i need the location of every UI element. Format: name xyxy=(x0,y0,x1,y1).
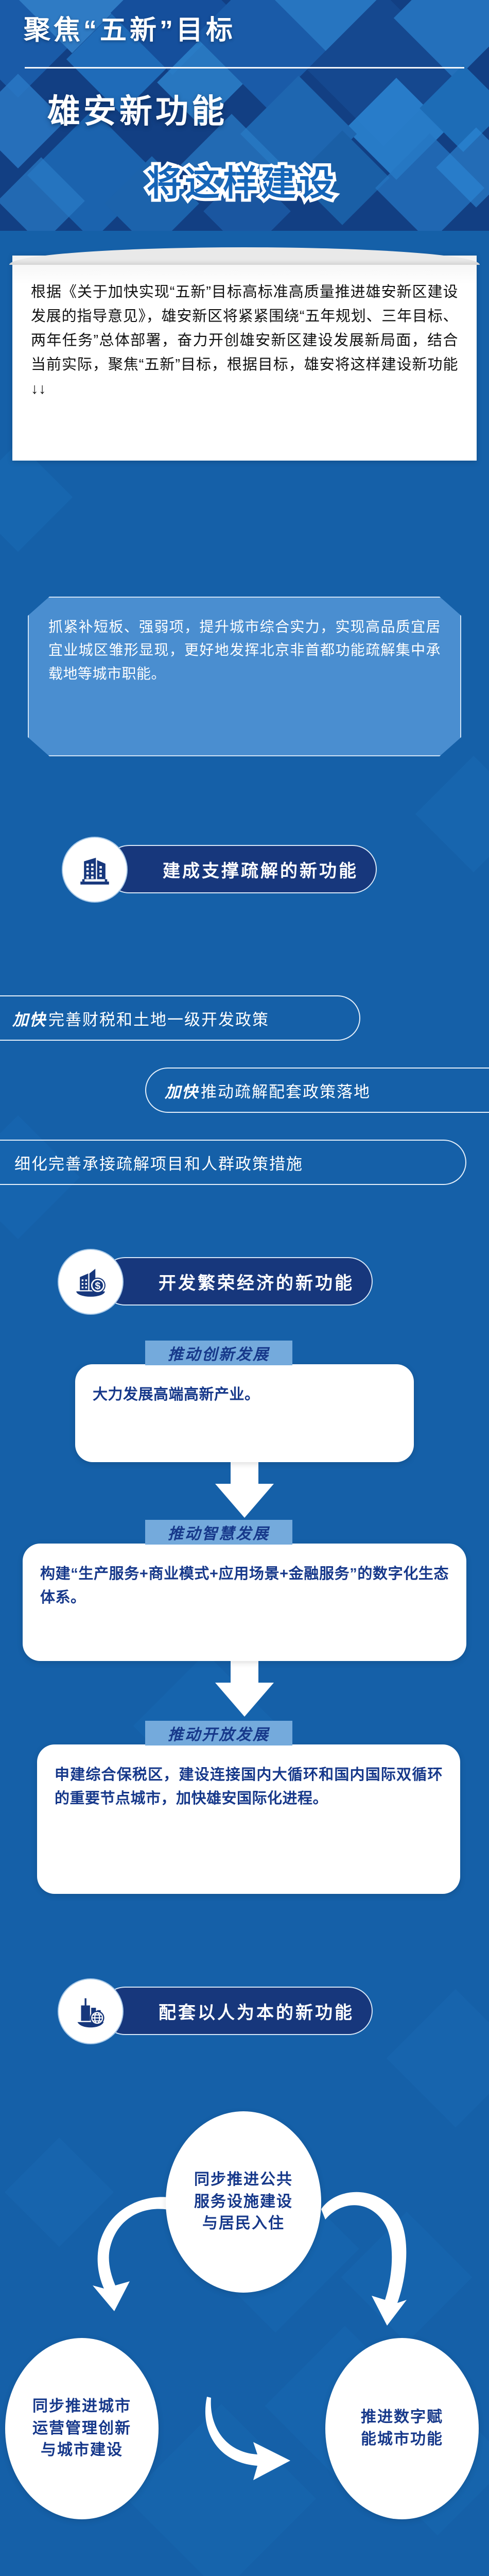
hero-divider-rule xyxy=(25,67,464,69)
hero-header: 聚焦“五新”目标 雄安新功能 将这样建设 xyxy=(0,0,489,231)
callout-bubble-2: 构建“生产服务+商业模式+应用场景+金融服务”的数字化生态体系。 xyxy=(23,1544,466,1661)
callout-tag-3: 推动开放发展 xyxy=(145,1721,292,1745)
callout-bubble-2-text: 构建“生产服务+商业模式+应用场景+金融服务”的数字化生态体系。 xyxy=(23,1544,466,1629)
hero-eyebrow-title: 聚焦“五新”目标 xyxy=(24,8,236,47)
outcome-circle-bl-line2: 运营管理创新 xyxy=(32,2418,131,2440)
outcome-circle-bl-line1: 同步推进城市 xyxy=(32,2396,131,2418)
policy-pill-1-emph: 加快 xyxy=(12,1007,46,1030)
outcome-circle-bottom-right: 推进数字赋 能城市功能 xyxy=(325,2338,479,2519)
policy-pill-3-label: 细化完善承接疏解项目和人群政策措施 xyxy=(14,1151,303,1174)
section-title-pill: 建成支撑疏解的新功能 xyxy=(105,845,377,893)
intro-paper-text: 根据《关于加快实现“五新”目标高标准高质量推进雄安新区建设发展的指导意见》，雄安… xyxy=(12,256,477,419)
section-title-pill: 配套以人为本的新功能 xyxy=(101,1987,373,2035)
infographic-poster: 聚焦“五新”目标 雄安新功能 将这样建设 根据《关于加快实现“五新”目标高标准高… xyxy=(0,0,489,2576)
section-title-label: 建成支撑疏解的新功能 xyxy=(163,857,358,882)
background-diamond xyxy=(387,1989,489,2128)
outcome-circle-top: 同步推进公共 服务设施建设 与居民入住 xyxy=(166,2111,321,2293)
section-title-label: 开发繁荣经济的新功能 xyxy=(159,1269,354,1294)
office-building-icon xyxy=(62,837,128,903)
outcome-circle-top-line3: 与居民入住 xyxy=(194,2213,293,2235)
flow-arrow-down-2 xyxy=(211,1656,278,1718)
policy-pill-3[interactable]: 细化完善承接疏解项目和人群政策措施 xyxy=(0,1140,466,1185)
svg-text:$: $ xyxy=(95,1280,100,1292)
intro-highlight-text: 抓紧补短板、强弱项，提升城市综合实力，实现高品质宜居宜业城区雏形显现，更好地发挥… xyxy=(28,597,461,704)
hero-main-title: 雄安新功能 xyxy=(47,85,228,132)
outcome-circle-br-line2: 能城市功能 xyxy=(361,2429,443,2451)
policy-pill-1-label: 完善财税和土地一级开发政策 xyxy=(48,1007,269,1030)
callout-tag-2: 推动智慧发展 xyxy=(145,1520,292,1545)
curved-arrow-bottom xyxy=(204,2391,302,2488)
outcome-circle-top-line1: 同步推进公共 xyxy=(194,2169,293,2191)
outcome-circle-bl-line3: 与城市建设 xyxy=(32,2439,131,2462)
policy-pill-1[interactable]: 加快 完善财税和土地一级开发政策 xyxy=(0,995,360,1041)
callout-bubble-1: 大力发展高端高新产业。 xyxy=(75,1364,414,1462)
curved-arrow-right xyxy=(315,2183,423,2328)
section-title-pill: 开发繁荣经济的新功能 xyxy=(101,1257,373,1306)
outcome-circle-br-line1: 推进数字赋 xyxy=(361,2406,443,2429)
city-globe-icon xyxy=(58,1978,124,2044)
callout-bubble-1-text: 大力发展高端高新产业。 xyxy=(75,1364,414,1425)
section-title-label: 配套以人为本的新功能 xyxy=(159,1998,354,2024)
background-diamond xyxy=(415,756,489,872)
policy-pill-2[interactable]: 加快 推动疏解配套政策落地 xyxy=(145,1067,489,1113)
outcome-circle-top-line2: 服务设施建设 xyxy=(194,2191,293,2213)
callout-bubble-3: 申建综合保税区，建设连接国内大循环和国内国际双循环的重要节点城市，加快雄安国际化… xyxy=(37,1744,460,1894)
policy-pill-2-label: 推动疏解配套政策落地 xyxy=(201,1079,371,1102)
callout-bubble-3-text: 申建综合保税区，建设连接国内大循环和国内国际双循环的重要节点城市，加快雄安国际化… xyxy=(37,1744,460,1829)
hero-sub-title: 将这样建设 xyxy=(147,155,337,206)
callout-tag-1: 推动创新发展 xyxy=(145,1341,292,1365)
building-dollar-icon: $ xyxy=(58,1249,124,1315)
flow-arrow-down-1 xyxy=(211,1457,278,1519)
outcome-circle-bottom-left: 同步推进城市 运营管理创新 与城市建设 xyxy=(5,2338,159,2519)
intro-paper-card: 根据《关于加快实现“五新”目标高标准高质量推进雄安新区建设发展的指导意见》，雄安… xyxy=(12,256,477,461)
intro-highlight-panel: 抓紧补短板、强弱项，提升城市综合实力，实现高品质宜居宜业城区雏形显现，更好地发挥… xyxy=(28,597,461,756)
policy-pill-2-emph: 加快 xyxy=(165,1079,199,1102)
